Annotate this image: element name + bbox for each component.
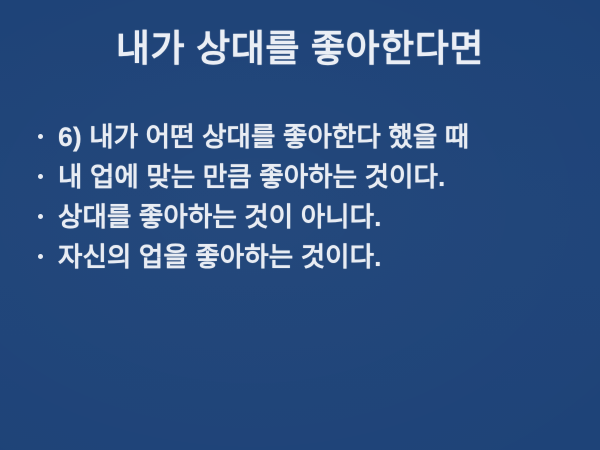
list-item: 6) 내가 어떤 상대를 좋아한다 했을 때 [33, 117, 588, 157]
page-title: 내가 상대를 좋아한다면 [0, 24, 600, 74]
bullet-dot-icon [38, 254, 43, 259]
list-item: 내 업에 맞는 만큼 좋아하는 것이다. [33, 157, 588, 197]
bullet-dot-icon [38, 134, 43, 139]
bullet-dot-icon [38, 174, 43, 179]
list-item: 자신의 업을 좋아하는 것이다. [33, 237, 588, 277]
presentation-slide: 내가 상대를 좋아한다면 6) 내가 어떤 상대를 좋아한다 했을 때 내 업에… [0, 0, 600, 450]
bullet-list: 6) 내가 어떤 상대를 좋아한다 했을 때 내 업에 맞는 만큼 좋아하는 것… [33, 117, 588, 277]
list-item-label: 내 업에 맞는 만큼 좋아하는 것이다. [58, 162, 446, 192]
list-item: 상대를 좋아하는 것이 아니다. [33, 197, 588, 237]
list-item-label: 상대를 좋아하는 것이 아니다. [58, 202, 382, 232]
bullet-dot-icon [38, 214, 43, 219]
list-item-label: 자신의 업을 좋아하는 것이다. [58, 242, 382, 272]
list-item-label: 6) 내가 어떤 상대를 좋아한다 했을 때 [58, 122, 469, 152]
